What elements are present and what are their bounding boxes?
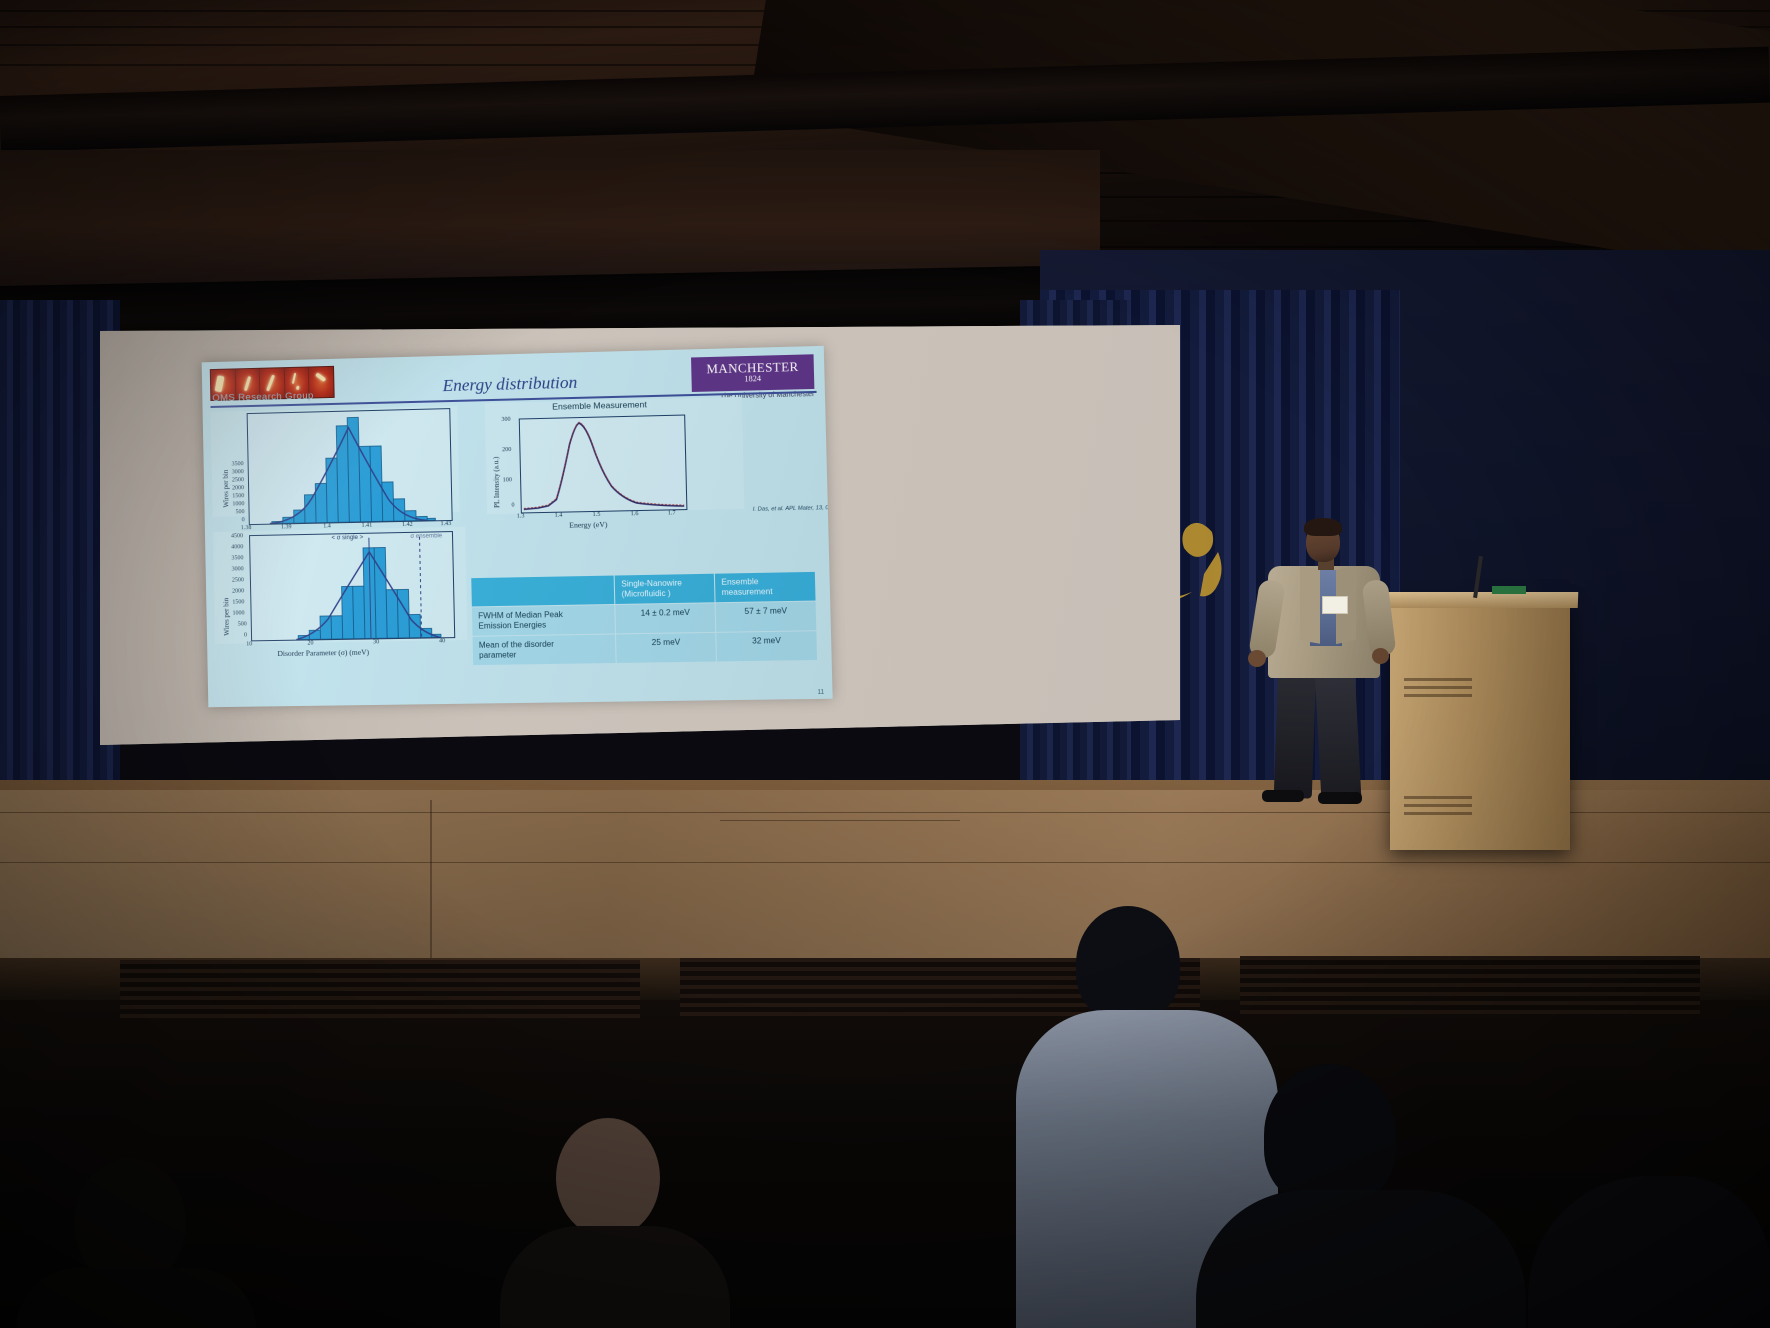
chart1-ytick: 1000: [232, 501, 244, 507]
speaker-shoe-left: [1262, 790, 1304, 802]
header-ensemble-line1: Ensemble: [721, 577, 758, 587]
chart1-ytick: 2500: [232, 477, 244, 483]
chart2-ytick: 200: [502, 447, 511, 453]
chart1-plot-area: [247, 408, 453, 525]
chart2-ytick: 100: [503, 477, 512, 483]
chart3-ytick: 4500: [231, 533, 243, 539]
row1-label: FWHM of Median Peak Emission Energies: [471, 604, 615, 636]
chart3-ytick: 500: [238, 621, 247, 627]
speaker-leg-right: [1315, 667, 1362, 801]
chart3-xtick: 20: [307, 640, 313, 646]
chart3-xtick: 40: [439, 638, 445, 644]
speaker-lapel-left: [1300, 566, 1320, 644]
table-header-blank: [471, 575, 615, 607]
annotation-sigma-single: < σ single >: [331, 535, 363, 542]
chart2-title: Ensemble Measurement: [552, 399, 647, 411]
chart-ensemble-measurement: Ensemble Measurement PL Intensity (a.u.)…: [485, 397, 745, 514]
speaker-hand-left: [1248, 650, 1266, 667]
chart2-xtick: 1.7: [668, 510, 676, 516]
audience-member-head: [1264, 1064, 1396, 1206]
row1-label-line1: FWHM of Median Peak: [478, 610, 563, 621]
comparison-table: Single-Nanowire (Microfluidic ) Ensemble…: [470, 571, 818, 666]
chart2-xtick: 1.4: [555, 513, 563, 519]
slide-page-number: 11: [818, 690, 825, 696]
row2-label: Mean of the disorder parameter: [472, 634, 616, 666]
citation: I. Das, et al. APL Mater, 13, 061116 (20…: [753, 504, 833, 512]
audience-member-body: [16, 1268, 256, 1328]
chart1-ytick: 500: [236, 509, 245, 515]
table-header-single: Single-Nanowire (Microfluidic ): [614, 573, 715, 604]
chart2-curve: [520, 416, 687, 513]
audience-member-head: [1076, 906, 1180, 1022]
lectern: [1390, 600, 1570, 850]
chart2-xtick: 1.6: [631, 511, 639, 517]
row1-label-line2: Emission Energies: [478, 620, 546, 630]
row1-single-value: 14 ± 0.2 meV: [615, 603, 716, 634]
header-single-line2: (Microfluidic ): [621, 589, 670, 599]
chart3-ytick: 1000: [232, 610, 244, 616]
row2-single-value: 25 meV: [616, 632, 717, 663]
chart1-ytick: 0: [242, 517, 245, 523]
audience-member-body: [1196, 1190, 1526, 1328]
row2-label-line2: parameter: [479, 650, 516, 660]
chart3-ytick: 4000: [231, 544, 243, 550]
chart1-ytick: 3000: [232, 469, 244, 475]
speaker-shoe-right: [1318, 792, 1362, 804]
lectern-lamp: [1492, 586, 1526, 594]
chart3-xlabel: Disorder Parameter (σ) (meV): [277, 648, 369, 658]
chart1-ylabel: Wires per bin: [222, 470, 231, 508]
chart3-ytick: 1500: [232, 599, 244, 605]
chart2-ytick: 300: [501, 417, 510, 423]
chart2-xlabel: Energy (eV): [569, 520, 607, 530]
row1-ensemble-value: 57 ± 7 meV: [715, 601, 817, 632]
speaker-name-badge: [1322, 596, 1348, 614]
row2-ensemble-value: 32 meV: [716, 631, 818, 662]
chart3-ylabel: Wires per bin: [222, 598, 231, 636]
chart1-ytick: 2000: [232, 485, 244, 491]
lectern-top: [1384, 592, 1579, 608]
header-single-line1: Single-Nanowire: [621, 578, 682, 588]
header-ensemble-line2: measurement: [722, 587, 773, 597]
chart3-ytick: 3500: [231, 555, 243, 561]
table-row: Mean of the disorder parameter 25 meV 32…: [472, 631, 818, 666]
chart1-ytick: 3500: [232, 461, 244, 467]
chart-energy-histogram: Wires per bin 3500 3000 2500 2000 1500 1…: [211, 406, 460, 517]
chart-disorder-histogram: Wires per bin 4500 4000 3500 3000 2500 2…: [213, 527, 468, 644]
university-name: MANCHESTER: [706, 360, 798, 375]
audience-member-body: [500, 1226, 730, 1328]
chart3-bars: [250, 532, 454, 640]
chart1-ytick: 1500: [232, 493, 244, 499]
chart3-ytick: 3000: [232, 566, 244, 572]
speaker-hair: [1304, 518, 1342, 536]
table-header-ensemble: Ensemble measurement: [714, 571, 816, 602]
chart3-ytick: 2500: [232, 577, 244, 583]
audience-member-head: [556, 1118, 660, 1238]
chart3-ytick: 2000: [232, 588, 244, 594]
chart2-xtick: 1.3: [517, 513, 525, 519]
chart3-xtick: 10: [246, 641, 252, 647]
chart2-ylabel: PL Intensity (a.u.): [492, 457, 501, 508]
chart2-ytick: 0: [511, 502, 514, 508]
chart3-xtick: 30: [373, 639, 379, 645]
speaker-hand-right: [1372, 648, 1389, 664]
row2-label-line1: Mean of the disorder: [479, 640, 554, 650]
chart3-ytick: 0: [244, 632, 247, 638]
chart1-bars: [248, 409, 452, 524]
speaker-leg-left: [1274, 667, 1317, 798]
annotation-sigma-ensemble: σ ensemble: [410, 533, 442, 540]
chart2-xtick: 1.5: [593, 512, 601, 518]
university-year: 1824: [744, 374, 761, 385]
chart3-plot-area: [249, 531, 455, 641]
university-logo: MANCHESTER 1824: [691, 354, 814, 392]
chart2-plot-area: [519, 415, 688, 514]
projected-slide: OMS Research Group Energy distribution M…: [202, 346, 833, 707]
photo-scene: OMS Research Group Energy distribution M…: [0, 0, 1770, 1328]
